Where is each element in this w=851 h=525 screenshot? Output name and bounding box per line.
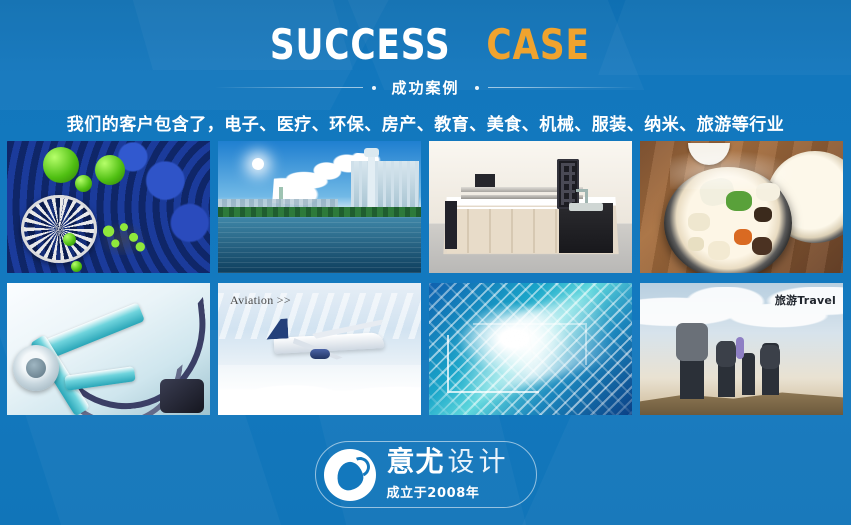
brand-logo[interactable]: 意尤设计 成立于2008年: [314, 441, 536, 508]
food-item: [752, 237, 772, 255]
gallery-tile-environmental[interactable]: [218, 141, 421, 273]
particle-cluster: [99, 221, 147, 255]
travel-label: 旅游Travel: [775, 292, 836, 308]
molecule-sphere: [43, 147, 79, 183]
gallery-tile-aviation[interactable]: Aviation >>: [218, 283, 421, 415]
lab-control-panel: [557, 159, 579, 209]
case-gallery-grid: Aviation >> 旅游Tr: [7, 141, 845, 415]
aviation-label: Aviation >>: [230, 293, 291, 308]
molecule-sphere: [71, 261, 82, 272]
gallery-tile-food[interactable]: [640, 141, 843, 273]
travel-image: 旅游Travel: [640, 283, 843, 415]
food-item: [688, 213, 710, 231]
gallery-tile-nanotech[interactable]: [7, 141, 210, 273]
title-main: SUCCESS: [270, 24, 451, 66]
molecule-sphere: [63, 233, 76, 246]
brand-name-bold: 意尤: [386, 445, 444, 478]
molecule-sphere: [95, 155, 125, 185]
airplane-engine: [310, 349, 330, 359]
stethoscope-chestpiece: [13, 345, 59, 391]
brand-established: 成立于2008年: [386, 482, 509, 501]
bird-drop-icon: [323, 449, 375, 501]
environmental-image: [218, 141, 421, 273]
brand-text: 意尤设计 成立于2008年: [386, 448, 509, 501]
steam: [670, 149, 800, 189]
divider-dot-right: [475, 86, 479, 90]
molecule-sphere: [75, 175, 92, 192]
backpack: [716, 341, 736, 367]
nanotech-image: [7, 141, 210, 273]
lab-cabinets: [447, 207, 559, 253]
sun-icon: [252, 158, 264, 170]
treeline: [218, 207, 421, 217]
divider-line-left: [215, 87, 363, 88]
subtitle-divider: 成功案例: [0, 77, 851, 98]
brand-name-row: 意尤设计: [386, 448, 509, 476]
lake-water: [218, 217, 421, 273]
title-accent: CASE: [486, 24, 590, 66]
lab-equipment-box: [475, 174, 495, 187]
gallery-tile-medical[interactable]: [7, 283, 210, 415]
sleeping-mat: [736, 337, 744, 359]
gallery-tile-electronics[interactable]: [429, 283, 632, 415]
tagline: 我们的客户包含了，电子、医疗、环保、房产、教育、美食、机械、服装、纳米、旅游等行…: [0, 110, 851, 135]
lab-cabinet-dark: [445, 201, 457, 249]
plant-tower: [368, 153, 375, 215]
divider-dot-left: [372, 86, 376, 90]
food-item: [726, 191, 752, 211]
backpack: [676, 323, 708, 361]
medical-image: [7, 283, 210, 415]
banner-header: SUCCESSCASE 成功案例 我们的客户包含了，电子、医疗、环保、房产、教育…: [0, 0, 851, 135]
medical-device: [160, 379, 204, 413]
aviation-image: Aviation >>: [218, 283, 421, 415]
page-root: SUCCESSCASE 成功案例 我们的客户包含了，电子、医疗、环保、房产、教育…: [0, 0, 851, 525]
cloud-deck: [218, 365, 421, 415]
backpack: [760, 345, 780, 369]
fullerene-icon: [21, 195, 97, 263]
subtitle-cn: 成功案例: [385, 77, 465, 98]
electronics-image: [429, 283, 632, 415]
food-image: [640, 141, 843, 273]
lab-sink: [569, 203, 603, 211]
food-item: [708, 241, 730, 260]
food-item: [754, 207, 772, 222]
gallery-tile-travel[interactable]: 旅游Travel: [640, 283, 843, 415]
food-item: [688, 237, 704, 251]
divider-line-right: [488, 87, 636, 88]
laboratory-image: [429, 141, 632, 273]
gallery-tile-laboratory[interactable]: [429, 141, 632, 273]
food-item: [734, 229, 752, 245]
page-title: SUCCESSCASE: [0, 24, 851, 66]
brand-name-light: 设计: [448, 447, 510, 478]
hiker-figure: [742, 353, 755, 395]
